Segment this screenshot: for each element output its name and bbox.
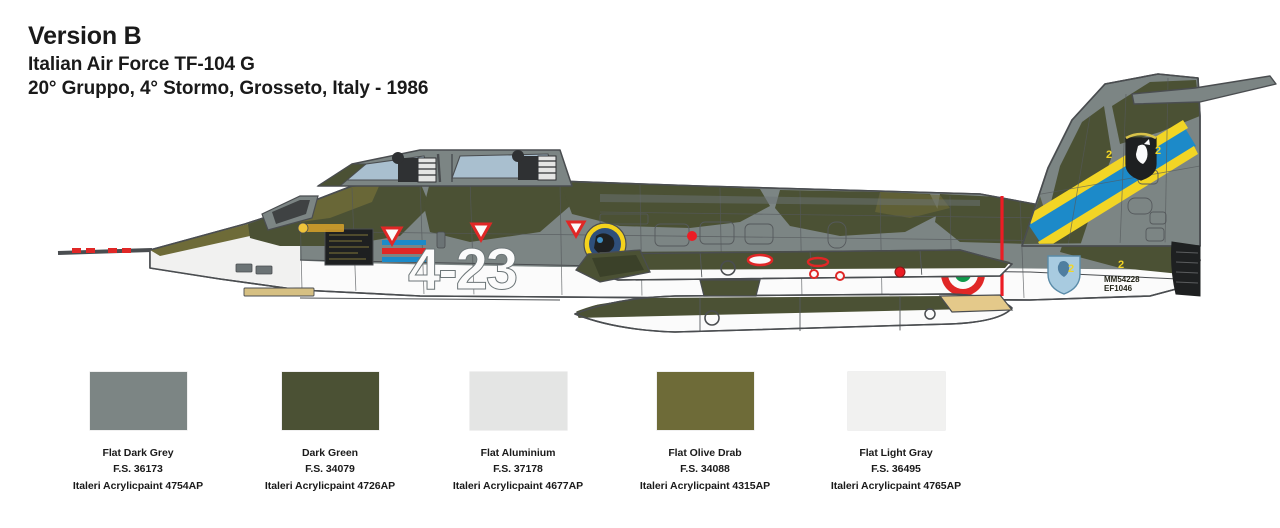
paint-swatch-flat-dark-grey: Flat Dark Grey F.S. 36173 Italeri Acryli… xyxy=(43,372,233,494)
paint-fs-code: F.S. 36495 xyxy=(801,461,991,477)
paint-fs-code: F.S. 34079 xyxy=(235,461,425,477)
paint-name: Flat Dark Grey xyxy=(43,445,233,461)
swatch-chip-dark-green xyxy=(282,372,379,430)
paint-swatch-flat-olive-drab: Flat Olive Drab F.S. 34088 Italeri Acryl… xyxy=(610,372,800,494)
swatch-chip-flat-olive-drab xyxy=(657,372,754,430)
tail-crest-badge xyxy=(1126,134,1156,180)
paint-fs-code: F.S. 36173 xyxy=(43,461,233,477)
aircraft-profile-illustration: 4-23 xyxy=(0,46,1280,356)
paint-product-code: Italeri Acrylicpaint 4315AP xyxy=(610,478,800,494)
swatch-chip-flat-dark-grey xyxy=(90,372,187,430)
paint-product-code: Italeri Acrylicpaint 4726AP xyxy=(235,478,425,494)
stencil-number-aft-2: 2 xyxy=(1118,259,1124,271)
tail-serial-upper: MM54228 xyxy=(1104,275,1140,284)
paint-name: Flat Olive Drab xyxy=(610,445,800,461)
paint-name: Flat Aluminium xyxy=(423,445,613,461)
paint-name: Flat Light Gray xyxy=(801,445,991,461)
swatch-chip-flat-light-gray xyxy=(848,372,945,430)
stencil-number-fin-2: 2 xyxy=(1155,145,1161,157)
tail-serial-lower: EF1046 xyxy=(1104,284,1133,293)
swatch-chip-flat-aluminium xyxy=(470,372,567,430)
ventral-fin xyxy=(940,295,1012,312)
paint-name: Dark Green xyxy=(235,445,425,461)
stencil-number-aft: 2 xyxy=(1068,263,1074,275)
fuselage-code: 4-23 xyxy=(408,237,517,302)
cockpit-canopy xyxy=(318,150,572,186)
paint-product-code: Italeri Acrylicpaint 4677AP xyxy=(423,478,613,494)
paint-swatch-flat-light-gray: Flat Light Gray F.S. 36495 Italeri Acryl… xyxy=(801,372,991,494)
stencil-number-fin: 2 xyxy=(1106,149,1112,161)
paint-fs-code: F.S. 34088 xyxy=(610,461,800,477)
nose-pitot-probe xyxy=(58,248,152,253)
paint-fs-code: F.S. 37178 xyxy=(423,461,613,477)
paint-product-code: Italeri Acrylicpaint 4754AP xyxy=(43,478,233,494)
exhaust-nozzle xyxy=(1172,242,1201,296)
paint-legend: Flat Dark Grey F.S. 36173 Italeri Acryli… xyxy=(0,372,1280,512)
paint-product-code: Italeri Acrylicpaint 4765AP xyxy=(801,478,991,494)
paint-swatch-dark-green: Dark Green F.S. 34079 Italeri Acrylicpai… xyxy=(235,372,425,494)
paint-swatch-flat-aluminium: Flat Aluminium F.S. 37178 Italeri Acryli… xyxy=(423,372,613,494)
